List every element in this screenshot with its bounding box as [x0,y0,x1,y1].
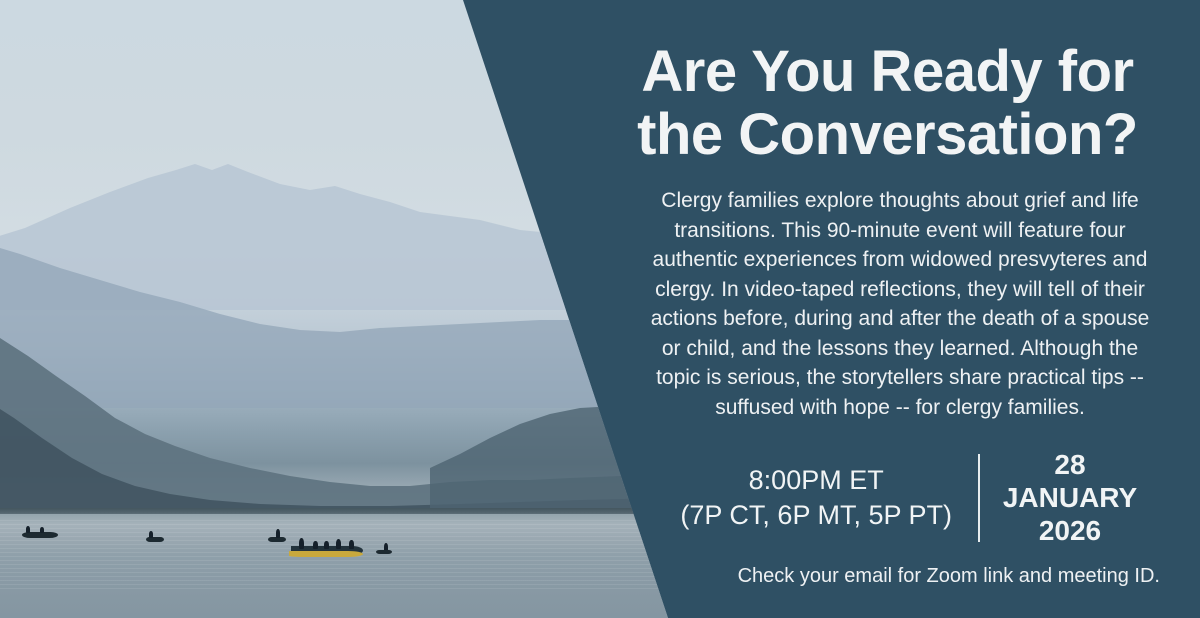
hero-photo-pane [0,0,700,618]
boat-figure [313,541,318,549]
boat-figure [40,527,44,533]
boat-figure [349,540,354,549]
yellow-boat-deck [289,551,363,557]
event-details-row: 8:00PM ET (7P CT, 6P MT, 5P PT) 28 JANUA… [630,448,1160,547]
event-time-block: 8:00PM ET (7P CT, 6P MT, 5P PT) [680,463,978,533]
headline: Are You Ready for the Conversation? [615,40,1160,166]
event-date-month: JANUARY [980,481,1160,514]
boat-figure [149,531,153,538]
event-time-alternate-zones: (7P CT, 6P MT, 5P PT) [680,498,952,533]
event-promo-banner: Are You Ready for the Conversation? Cler… [0,0,1200,618]
boat-figure [336,539,341,549]
zoom-instructions-footnote: Check your email for Zoom link and meeti… [630,563,1160,589]
lake-mountain-photo [0,0,700,618]
event-date-day: 28 [980,448,1160,481]
boat-figure [276,529,280,538]
boat-silhouette [376,550,392,554]
boat-figure [324,541,329,549]
boat-figure [26,526,30,533]
event-time-primary: 8:00PM ET [680,463,952,498]
content-pane: Are You Ready for the Conversation? Cler… [610,0,1200,618]
event-date-year: 2026 [980,514,1160,547]
body-description: Clergy families explore thoughts about g… [640,186,1160,422]
event-date-block: 28 JANUARY 2026 [980,448,1160,547]
boat-figure [299,538,304,549]
